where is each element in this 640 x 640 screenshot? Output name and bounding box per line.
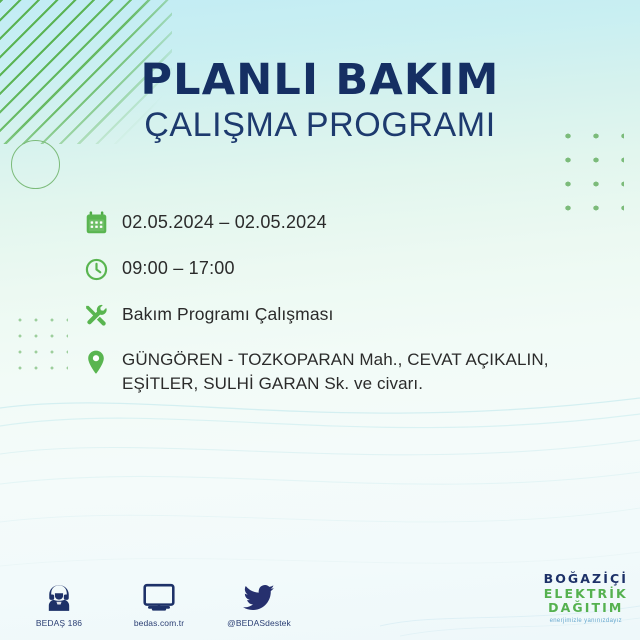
planned-maintenance-poster: PLANLI BAKIM ÇALIŞMA PROGRAMI [0,0,640,640]
page-title: PLANLI BAKIM [0,58,640,103]
logo-tagline: enerjimizle yanınızdayız [544,618,628,624]
dot-grid-left-decoration [10,310,68,382]
contact-website[interactable]: bedas.com.tr [122,579,196,628]
logo-line-elektrik: ELEKTRİK [544,587,628,602]
monitor-icon [143,579,175,613]
page-subtitle: ÇALIŞMA PROGRAMI [0,108,640,144]
map-pin-icon [84,344,122,378]
bedas-logo: BOĞAZİÇİ ELEKTRİK DAĞITIM enerjimizle ya… [544,572,628,624]
footer-contacts: BEDAŞ 186 bedas.com.tr @BEDASdestek [22,579,296,628]
poster-header: PLANLI BAKIM ÇALIŞMA PROGRAMI [0,58,640,143]
detail-row-work-type: Bakım Programı Çalışması [84,298,624,332]
contact-website-label: bedas.com.tr [134,618,184,628]
detail-row-date: 02.05.2024 – 02.05.2024 [84,206,624,240]
support-agent-icon [44,579,74,613]
contact-call-center[interactable]: BEDAŞ 186 [22,579,96,628]
calendar-icon [84,206,122,240]
logo-line-bogazici: BOĞAZİÇİ [544,572,628,587]
detail-row-time: 09:00 – 17:00 [84,252,624,286]
location-line-1: GÜNGÖREN - TOZKOPARAN Mah., CEVAT AÇIKAL… [122,350,549,369]
contact-twitter-label: @BEDASdestek [227,618,291,628]
detail-row-location: GÜNGÖREN - TOZKOPARAN Mah., CEVAT AÇIKAL… [84,344,624,397]
location-line-2: EŞİTLER, SULHİ GARAN Sk. ve civarı. [122,374,423,393]
circle-outline-decoration [11,140,60,189]
logo-line-dagitim: DAĞITIM [544,601,628,616]
tools-icon [84,298,122,332]
clock-icon [84,252,122,286]
contact-twitter[interactable]: @BEDASdestek [222,579,296,628]
twitter-icon [243,579,275,613]
maintenance-date-range: 02.05.2024 – 02.05.2024 [122,206,327,236]
contact-call-center-label: BEDAŞ 186 [36,618,82,628]
maintenance-work-type: Bakım Programı Çalışması [122,298,333,327]
maintenance-time-range: 09:00 – 17:00 [122,252,235,282]
maintenance-location: GÜNGÖREN - TOZKOPARAN Mah., CEVAT AÇIKAL… [122,344,549,397]
maintenance-details: 02.05.2024 – 02.05.2024 09:00 – 17:00 Ba… [84,206,624,397]
